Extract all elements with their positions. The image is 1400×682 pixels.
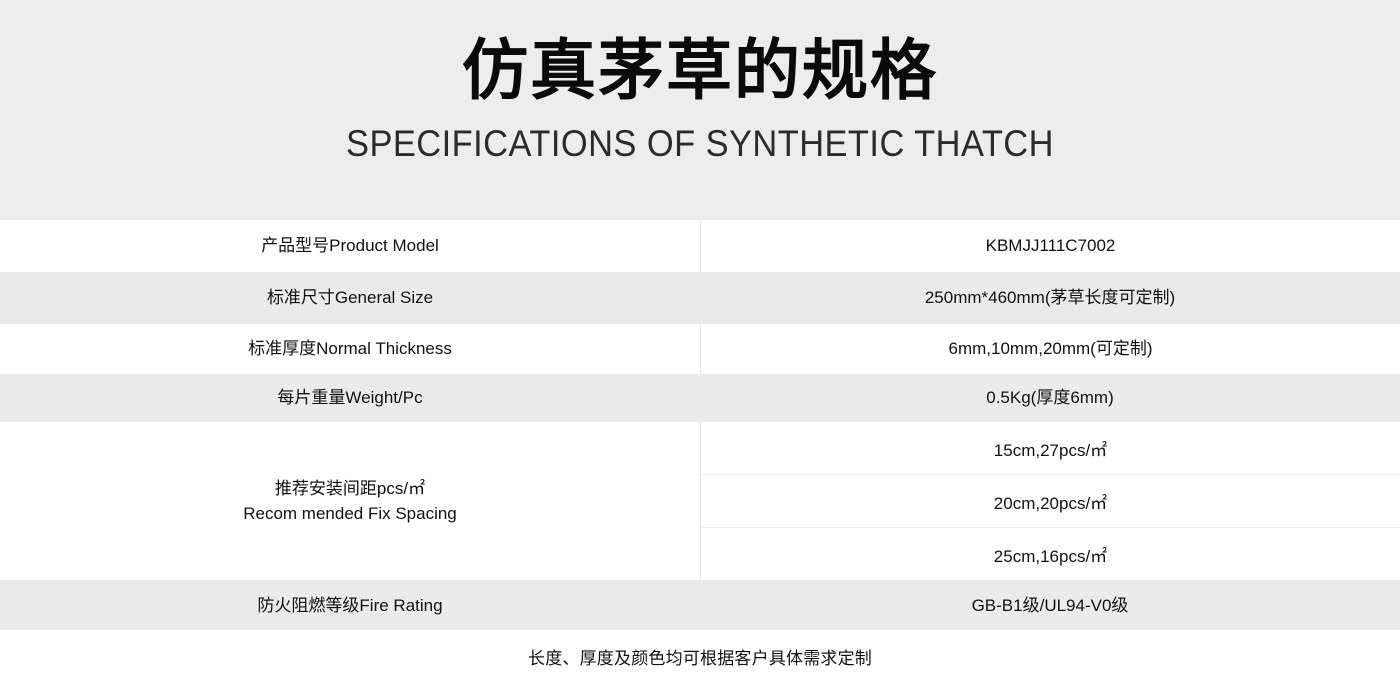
fix-spacing-label-line1: 推荐安装间距pcs/㎡ (243, 476, 457, 502)
table-row: 产品型号Product Model KBMJJ111C7002 (0, 220, 1400, 272)
row-label-general-size: 标准尺寸General Size (0, 272, 700, 324)
fix-spacing-values: 15cm,27pcs/㎡ 20cm,20pcs/㎡ 25cm,16pcs/㎡ (700, 422, 1400, 580)
fix-spacing-value-20cm: 20cm,20pcs/㎡ (701, 475, 1400, 528)
table-row: 标准尺寸General Size 250mm*460mm(茅草长度可定制) (0, 272, 1400, 324)
fix-spacing-value-15cm: 15cm,27pcs/㎡ (701, 422, 1400, 475)
row-label-weight-per-pc: 每片重量Weight/Pc (0, 374, 700, 422)
table-row: 防火阻燃等级Fire Rating GB-B1级/UL94-V0级 (0, 580, 1400, 632)
fix-spacing-label-line2: Recom mended Fix Spacing (243, 501, 457, 527)
row-value-normal-thickness: 6mm,10mm,20mm(可定制) (700, 324, 1400, 374)
page-title-en: SPECIFICATIONS OF SYNTHETIC THATCH (49, 124, 1351, 165)
page-header: 仿真茅草的规格 SPECIFICATIONS OF SYNTHETIC THAT… (0, 0, 1400, 220)
row-value-fire-rating: GB-B1级/UL94-V0级 (700, 580, 1400, 632)
specifications-table: 产品型号Product Model KBMJJ111C7002 标准尺寸Gene… (0, 220, 1400, 632)
fix-spacing-value-25cm: 25cm,16pcs/㎡ (701, 528, 1400, 580)
footer-note: 长度、厚度及颜色均可根据客户具体需求定制 (528, 644, 872, 669)
row-label-normal-thickness: 标准厚度Normal Thickness (0, 324, 700, 374)
specifications-page: 仿真茅草的规格 SPECIFICATIONS OF SYNTHETIC THAT… (0, 0, 1400, 682)
row-value-weight-per-pc: 0.5Kg(厚度6mm) (700, 374, 1400, 422)
row-label-fire-rating: 防火阻燃等级Fire Rating (0, 580, 700, 632)
row-value-general-size: 250mm*460mm(茅草长度可定制) (700, 272, 1400, 324)
table-row: 标准厚度Normal Thickness 6mm,10mm,20mm(可定制) (0, 324, 1400, 374)
table-row: 每片重量Weight/Pc 0.5Kg(厚度6mm) (0, 374, 1400, 422)
page-title-cn: 仿真茅草的规格 (0, 34, 1400, 108)
table-row-fix-spacing: 推荐安装间距pcs/㎡ Recom mended Fix Spacing 15c… (0, 422, 1400, 580)
row-value-product-model: KBMJJ111C7002 (700, 220, 1400, 272)
row-label-product-model: 产品型号Product Model (0, 220, 700, 272)
row-label-fix-spacing: 推荐安装间距pcs/㎡ Recom mended Fix Spacing (0, 422, 700, 580)
footer-area: 长度、厚度及颜色均可根据客户具体需求定制 (0, 630, 1400, 682)
